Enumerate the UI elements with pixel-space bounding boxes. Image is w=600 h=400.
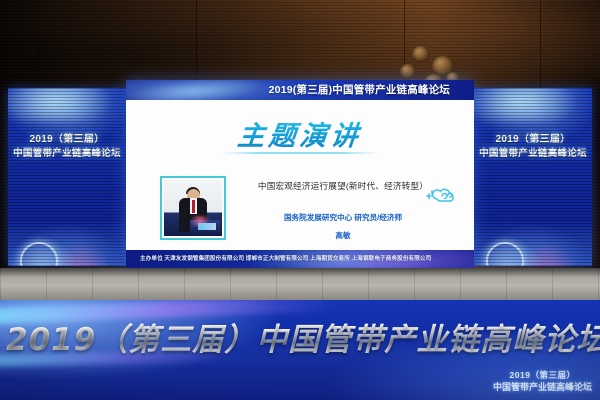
- led-scanlines: [8, 88, 126, 266]
- portrait-tie: [192, 200, 195, 213]
- slide-header-bar: 2019(第三届)中国管带产业链高峰论坛: [126, 80, 474, 100]
- sponsor-list: 主办单位 天津友发钢管集团股份有限公司 邯郸市正大制管有限公司 上海期货交易所 …: [140, 250, 431, 268]
- decor-ornament: [400, 64, 416, 79]
- corner-line2: 中国管带产业链高峰论坛: [493, 381, 592, 394]
- slide-sponsor-bar: 主办单位 天津友发钢管集团股份有限公司 邯郸市正大制管有限公司 上海期货交易所 …: [126, 250, 474, 268]
- talk-title: 中国宏观经济运行展望(新时代、经济转型）: [236, 180, 450, 192]
- led-panel-right: 2019（第三届） 中国管带产业链高峰论坛: [474, 88, 592, 266]
- speaker-organization: 国务院发展研究中心 研究员/经济师: [236, 212, 450, 223]
- slide-body: 主题演讲 中国宏观经济运行展望(新时代、经济转型） 国务院发展研究中心 研究员/…: [126, 100, 474, 250]
- floor-plank-seams: [0, 268, 600, 300]
- speaker-name: 高敏: [236, 230, 450, 241]
- speaker-photo-frame: [160, 176, 226, 240]
- banner-title: 2019（第三届）中国管带产业链高峰论坛: [6, 314, 600, 359]
- stage-front-banner: 2019（第三届）中国管带产业链高峰论坛 2019（第三届） 中国管带产业链高峰…: [0, 300, 600, 400]
- auspicious-cloud-icon: [422, 184, 462, 206]
- corner-event-mark: 2019（第三届） 中国管带产业链高峰论坛: [493, 369, 592, 394]
- portrait-podium-screen: [198, 223, 216, 230]
- conference-stage-photo: 2019（第三届） 中国管带产业链高峰论坛 2019（第三届） 中国管带产业链高…: [0, 0, 600, 400]
- speaker-portrait: [164, 180, 222, 236]
- presentation-screen: 2019(第三届)中国管带产业链高峰论坛 主题演讲 中国宏观经济运行展望(新时代…: [126, 80, 474, 268]
- keynote-title-underline: [222, 152, 378, 154]
- led-scanlines: [474, 88, 592, 266]
- stage-floor: [0, 268, 600, 300]
- keynote-title: 主题演讲: [126, 114, 474, 153]
- corner-line1: 2019（第三届）: [493, 369, 592, 381]
- decor-ornament: [412, 46, 430, 62]
- led-panel-left: 2019（第三届） 中国管带产业链高峰论坛: [8, 88, 126, 266]
- slide-header-title: 2019(第三届)中国管带产业链高峰论坛: [269, 80, 450, 100]
